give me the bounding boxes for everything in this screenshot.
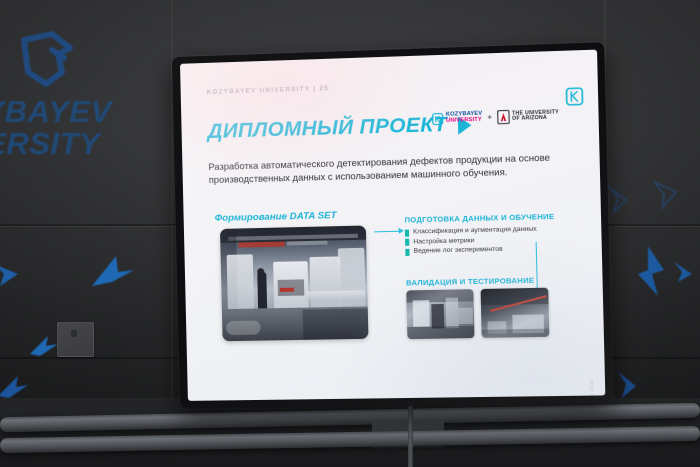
bullet-square-icon xyxy=(405,249,409,256)
kozybayev-mark-icon xyxy=(432,113,444,126)
bullet-text: Ведение лог экспериментов xyxy=(414,246,503,255)
presentation-slide: KOZYBAYEV UNIVERSITY | 25 ДИПЛОМНЫЙ ПРОЕ… xyxy=(180,50,605,401)
partner-logos: KOZYBAYEV UNIVERSITY + THE UNIVERSITY OF… xyxy=(432,108,559,126)
bird-decal-icon xyxy=(28,332,60,360)
bullet-text: Классификация и аугментация данных xyxy=(413,226,537,236)
slide-header-text: KOZYBAYEV UNIVERSITY | 25 xyxy=(207,85,330,96)
logo-separator: + xyxy=(487,114,491,121)
railing-area xyxy=(0,398,700,467)
page-title: ДИПЛОМНЫЙ ПРОЕКТ xyxy=(207,113,447,144)
list-item: Настройка метрики xyxy=(405,235,537,246)
kozybayev-k-mark-icon xyxy=(565,87,583,106)
slide-subtitle: Разработка автоматического детектировани… xyxy=(208,151,569,188)
flow-arrow-head-1 xyxy=(399,227,404,233)
bird-decal-outline-icon xyxy=(648,176,692,216)
handrail-post xyxy=(408,398,413,467)
kozybayev-university-logo: KOZYBAYEV UNIVERSITY xyxy=(432,112,483,126)
display-screen[interactable]: KOZYBAYEV UNIVERSITY | 25 ДИПЛОМНЫЙ ПРОЕ… xyxy=(180,50,605,401)
section-title-validation: ВАЛИДАЦИЯ И ТЕСТИРОВАНИЕ xyxy=(406,276,534,288)
bullet-square-icon xyxy=(405,239,409,246)
factory-photo-content xyxy=(220,225,369,341)
section-title-dataset: Формирование DATA SET xyxy=(215,210,337,224)
arizona-university-logo: THE UNIVERSITY OF ARIZONA xyxy=(497,108,559,124)
bird-decal-icon xyxy=(670,256,700,288)
bird-decal-icon xyxy=(0,256,32,292)
flow-arrow-line-1 xyxy=(374,231,401,233)
bullet-text: Настройка метрики xyxy=(413,237,474,246)
light-switch-plate[interactable] xyxy=(57,322,94,357)
bird-decal-outline-icon xyxy=(604,182,646,218)
list-item: Ведение лог экспериментов xyxy=(405,245,537,256)
section-title-preparation: ПОДГОТОВКА ДАННЫХ И ОБУЧЕНИЕ xyxy=(405,212,555,225)
bird-decal-icon xyxy=(612,368,644,402)
wall-kozybayev-logo-icon xyxy=(18,28,84,92)
conveyor-scan-photo xyxy=(481,288,550,338)
az-logo-line-2: OF ARIZONA xyxy=(512,115,559,122)
factory-production-line-photo xyxy=(220,225,369,341)
bird-decal-icon xyxy=(624,240,676,302)
wall-mounted-display[interactable]: KOZYBAYEV UNIVERSITY | 25 ДИПЛОМНЫЙ ПРОЕ… xyxy=(172,42,613,409)
bullet-square-icon xyxy=(405,229,409,236)
list-item: Классификация и аугментация данных xyxy=(405,226,537,237)
validation-photo-group xyxy=(406,288,549,339)
arizona-block-a-icon xyxy=(497,110,510,125)
ku-logo-line-2: UNIVERSITY xyxy=(446,118,483,125)
bird-decal-icon xyxy=(82,250,140,294)
preparation-bullet-list: Классификация и аугментация данных Настр… xyxy=(405,226,537,259)
inspection-station-photo xyxy=(406,289,474,339)
